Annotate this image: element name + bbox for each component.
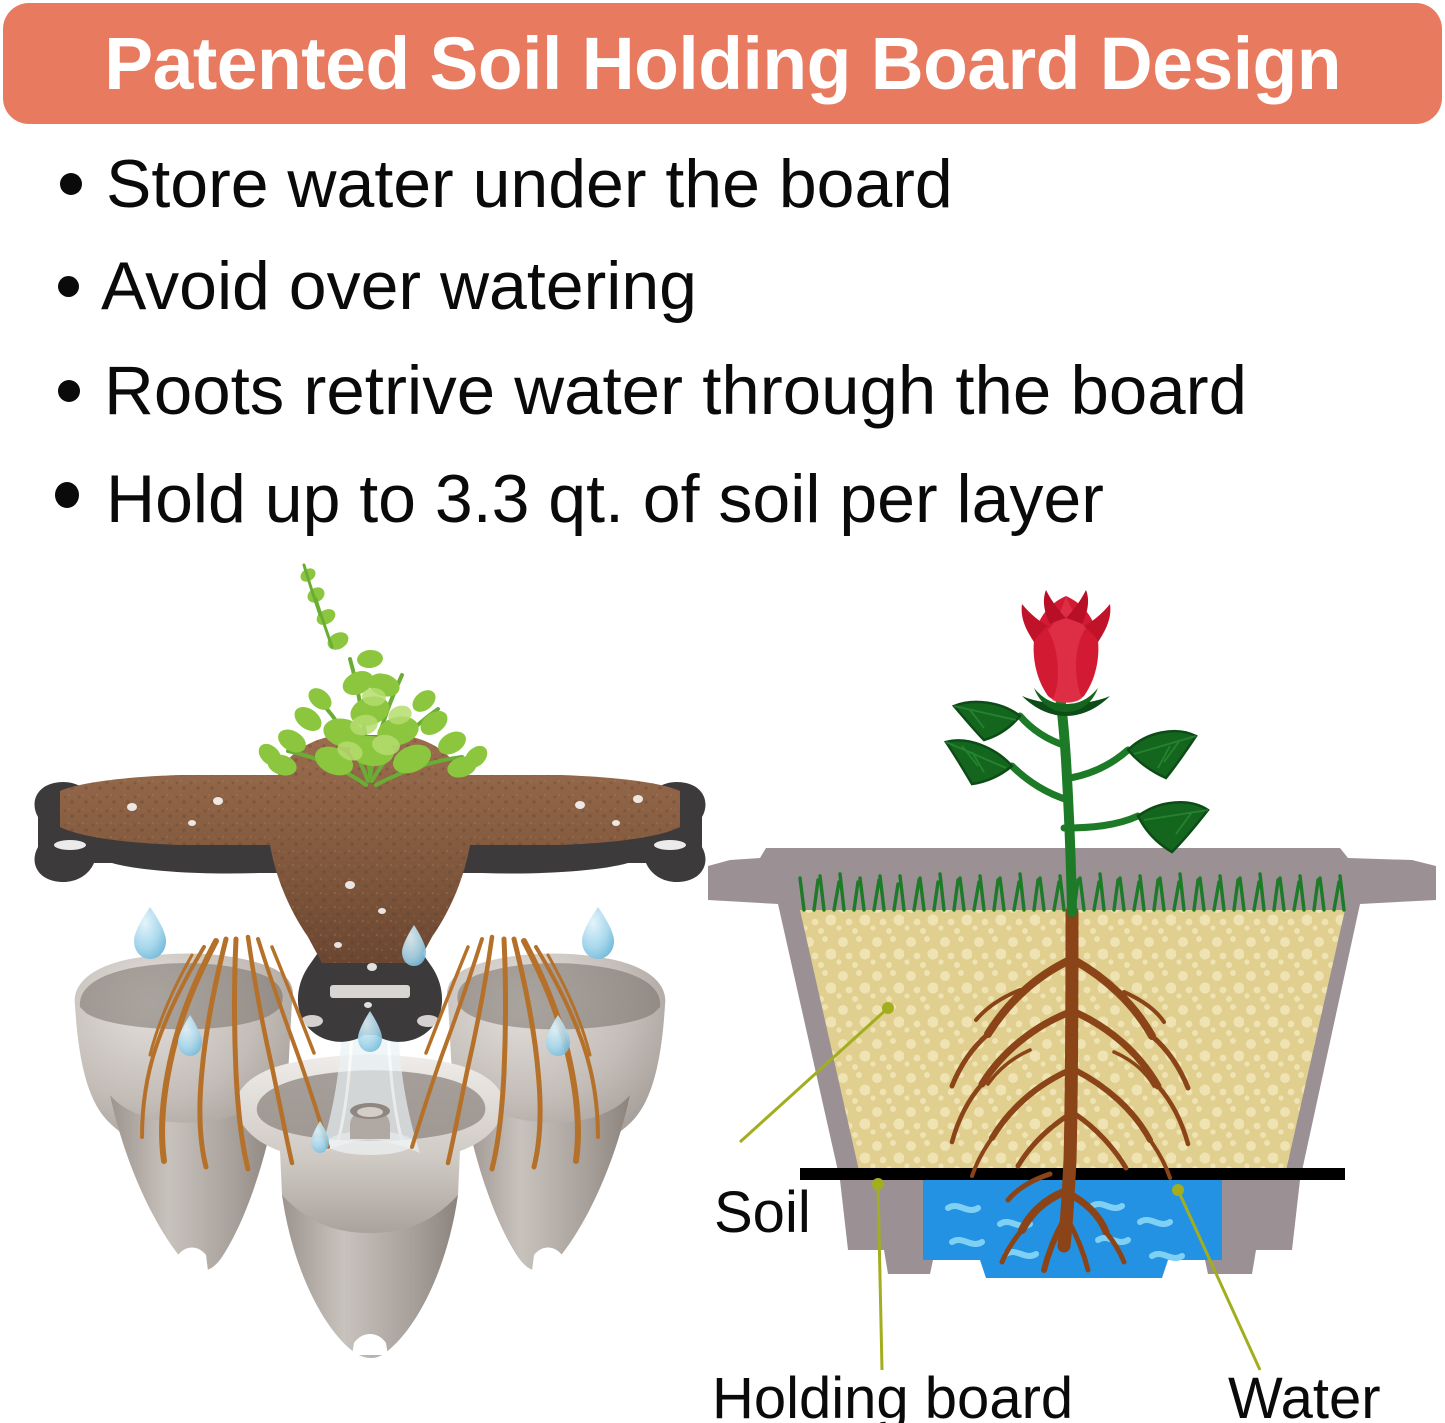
list-item: Store water under the board bbox=[60, 150, 953, 218]
plant-foliage bbox=[254, 565, 491, 785]
bullet-dot-icon bbox=[55, 482, 79, 508]
page-title: Patented Soil Holding Board Design bbox=[104, 27, 1341, 101]
pot-cross-section-diagram: Soil Holding board Water bbox=[700, 560, 1445, 1420]
feature-text: Avoid over watering bbox=[101, 252, 697, 320]
bullet-dot-icon bbox=[60, 173, 82, 195]
header-banner: Patented Soil Holding Board Design bbox=[3, 3, 1442, 124]
label-holding-board: Holding board bbox=[712, 1366, 1073, 1423]
bullet-dot-icon bbox=[58, 276, 79, 297]
bullet-dot-icon bbox=[58, 380, 80, 402]
list-item: Hold up to 3.3 qt. of soil per layer bbox=[55, 465, 1104, 533]
stacked-planter-photo bbox=[20, 555, 720, 1355]
feature-text: Store water under the board bbox=[106, 150, 953, 218]
list-item: Avoid over watering bbox=[58, 252, 697, 320]
rose-flower-icon bbox=[1022, 590, 1111, 703]
list-item: Roots retrive water through the board bbox=[58, 356, 1247, 425]
label-soil: Soil bbox=[714, 1180, 811, 1245]
feature-text: Hold up to 3.3 qt. of soil per layer bbox=[106, 465, 1104, 533]
label-water: Water bbox=[1228, 1366, 1381, 1423]
feature-text: Roots retrive water through the board bbox=[104, 356, 1247, 425]
